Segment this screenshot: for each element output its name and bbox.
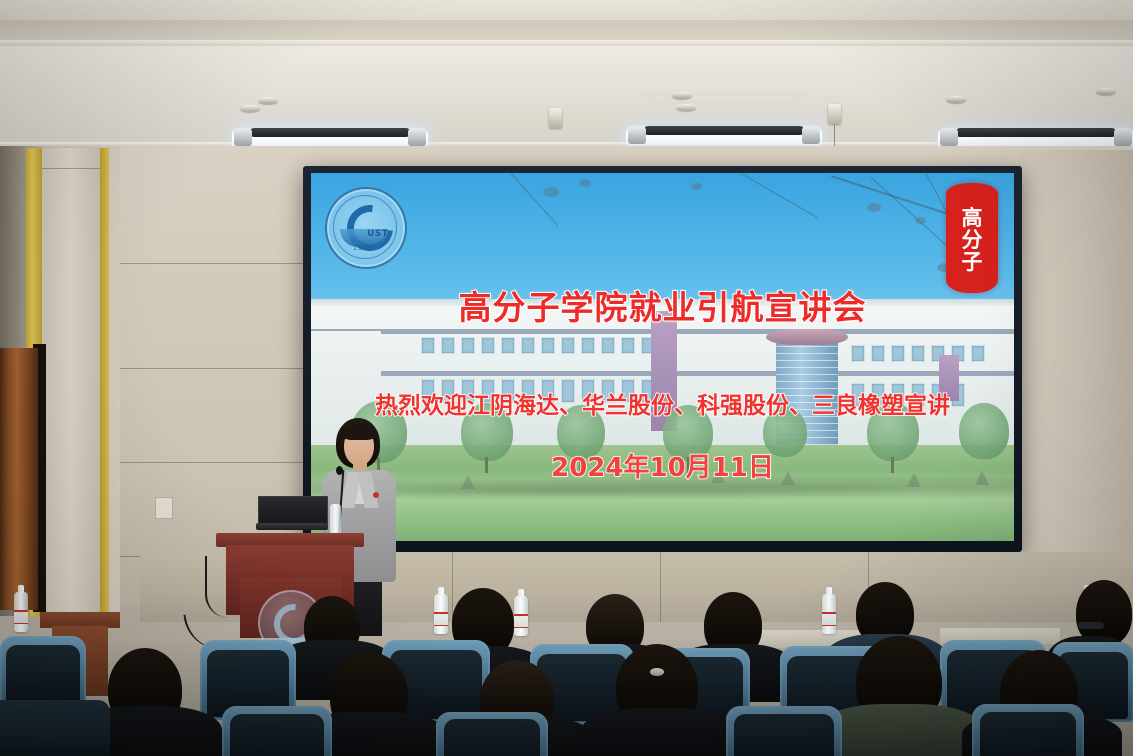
foliage-decoration bbox=[579, 179, 591, 187]
presenter-badge-icon bbox=[373, 492, 379, 498]
lecture-hall-photo: UST 1950 高 分 子 高分子学院就业引航宣讲会 热烈欢迎江阴海达、华兰股… bbox=[0, 0, 1133, 756]
yellow-accent-strip bbox=[100, 148, 109, 616]
water-bottle bbox=[14, 592, 28, 632]
water-bottle bbox=[822, 594, 836, 634]
bottle-label bbox=[14, 610, 28, 624]
audience-shoulders bbox=[580, 708, 736, 756]
emblem-year-text: 1950 bbox=[353, 245, 372, 252]
emblem-monogram-text: UST bbox=[367, 229, 388, 239]
auditorium-seat[interactable] bbox=[0, 636, 86, 710]
foliage-decoration bbox=[543, 187, 559, 197]
ceiling-spotlight-icon bbox=[258, 97, 278, 104]
bottle-label bbox=[434, 612, 448, 626]
led-screen[interactable]: UST 1950 高 分 子 高分子学院就业引航宣讲会 热烈欢迎江阴海达、华兰股… bbox=[311, 173, 1014, 541]
right-wall bbox=[1018, 150, 1133, 610]
tower-roof-cap bbox=[766, 329, 848, 345]
wall-pillar bbox=[40, 148, 102, 616]
side-door[interactable] bbox=[0, 348, 38, 610]
ceiling-camera-icon bbox=[828, 104, 841, 124]
wall-seam bbox=[42, 168, 100, 169]
eyeglasses-icon bbox=[1078, 622, 1104, 629]
microphone-icon bbox=[336, 466, 343, 475]
seal-char-3: 子 bbox=[962, 251, 983, 272]
ceiling-upper-band bbox=[0, 0, 1133, 22]
presenter-fringe bbox=[342, 424, 376, 440]
ceiling-spotlight-icon bbox=[1096, 88, 1116, 95]
ceiling-spotlight-icon bbox=[672, 92, 692, 99]
podium-water-bottle bbox=[330, 504, 341, 534]
water-bottle bbox=[434, 594, 448, 634]
auditorium-seat[interactable] bbox=[222, 706, 332, 756]
seal-char-2: 分 bbox=[962, 229, 983, 250]
slide-date: 2024年10月11日 bbox=[311, 447, 1014, 484]
water-bottle bbox=[514, 596, 528, 636]
hair-tie-icon bbox=[650, 668, 664, 676]
wall-outlet-icon bbox=[155, 497, 173, 519]
school-emblem: UST 1950 bbox=[325, 187, 407, 269]
red-seal-stamp: 高 分 子 bbox=[946, 183, 998, 293]
ceiling-spotlight-icon bbox=[240, 105, 260, 112]
auditorium-seat[interactable] bbox=[972, 704, 1084, 756]
foliage-decoration bbox=[691, 183, 702, 190]
seal-char-1: 高 bbox=[962, 207, 983, 228]
bottle-label bbox=[514, 614, 528, 628]
laptop-keyboard[interactable] bbox=[256, 523, 328, 530]
ceiling-spotlight-icon bbox=[676, 104, 696, 111]
ceiling-spotlight-icon bbox=[946, 96, 966, 103]
slide-title: 高分子学院就业引航宣讲会 bbox=[311, 281, 1014, 329]
smoke-detector-icon bbox=[549, 108, 562, 128]
bottle-label bbox=[822, 612, 836, 626]
foliage-decoration bbox=[915, 217, 926, 224]
stage-wall-seam bbox=[660, 552, 661, 622]
auditorium-seat[interactable] bbox=[726, 706, 842, 756]
auditorium-seat[interactable] bbox=[436, 712, 548, 756]
slide-subtitle: 热烈欢迎江阴海达、华兰股份、科强股份、三良橡塑宣讲 bbox=[311, 386, 1014, 420]
auditorium-seat[interactable] bbox=[0, 700, 110, 756]
foliage-decoration bbox=[867, 203, 881, 212]
